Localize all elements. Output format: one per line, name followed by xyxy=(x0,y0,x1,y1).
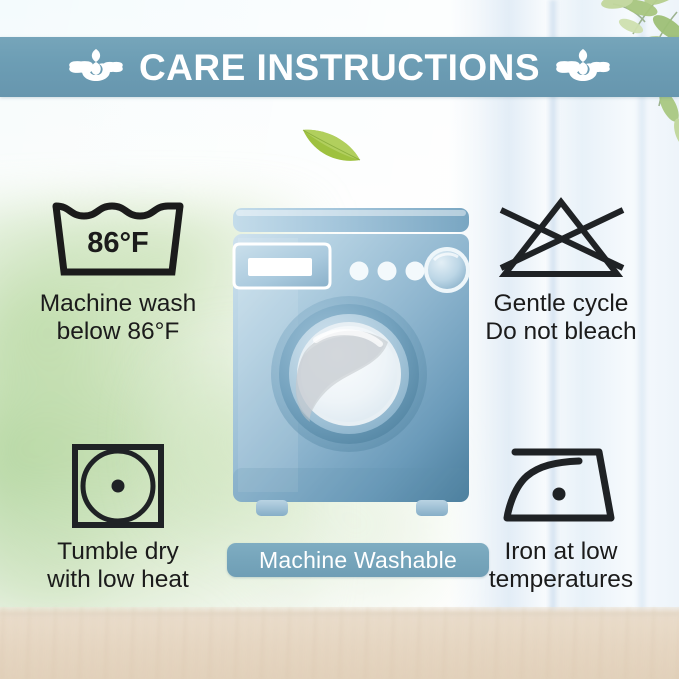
tumble-dry-low-icon xyxy=(66,440,170,532)
care-item-gentle-cycle-no-bleach: Gentle cycle Do not bleach xyxy=(455,192,667,347)
care-item-caption: Machine wash below 86°F xyxy=(40,290,197,347)
washer-foot xyxy=(256,500,288,516)
wood-grain-texture xyxy=(0,607,679,679)
control-button xyxy=(378,262,397,281)
care-instructions-graphic: CARE INSTRUCTIONS 86°F Machine wash belo… xyxy=(0,0,679,679)
do-not-bleach-triangle-icon xyxy=(485,192,637,284)
iron-low-heat-icon xyxy=(485,440,637,532)
badge-label: Machine Washable xyxy=(259,549,457,572)
wash-tub-icon: 86°F xyxy=(42,192,194,284)
care-item-tumble-dry: Tumble dry with low heat xyxy=(12,440,224,595)
care-item-caption: Gentle cycle Do not bleach xyxy=(485,290,636,347)
machine-washable-badge: Machine Washable xyxy=(227,543,489,577)
washing-machine-illustration xyxy=(228,206,474,528)
banner: CARE INSTRUCTIONS xyxy=(0,37,679,97)
washer-foot xyxy=(416,500,448,516)
care-item-caption: Tumble dry with low heat xyxy=(47,538,189,595)
banner-title: CARE INSTRUCTIONS xyxy=(139,49,540,86)
fleur-de-lis-icon xyxy=(69,47,123,87)
control-button xyxy=(406,262,425,281)
care-item-machine-wash: 86°F Machine wash below 86°F xyxy=(12,192,224,347)
table-edge-highlight xyxy=(0,611,679,617)
control-button xyxy=(350,262,369,281)
fleur-de-lis-icon xyxy=(556,47,610,87)
care-item-caption: Iron at low temperatures xyxy=(489,538,633,595)
floating-leaf-icon xyxy=(300,122,364,166)
wash-temperature-value: 86°F xyxy=(87,227,149,259)
